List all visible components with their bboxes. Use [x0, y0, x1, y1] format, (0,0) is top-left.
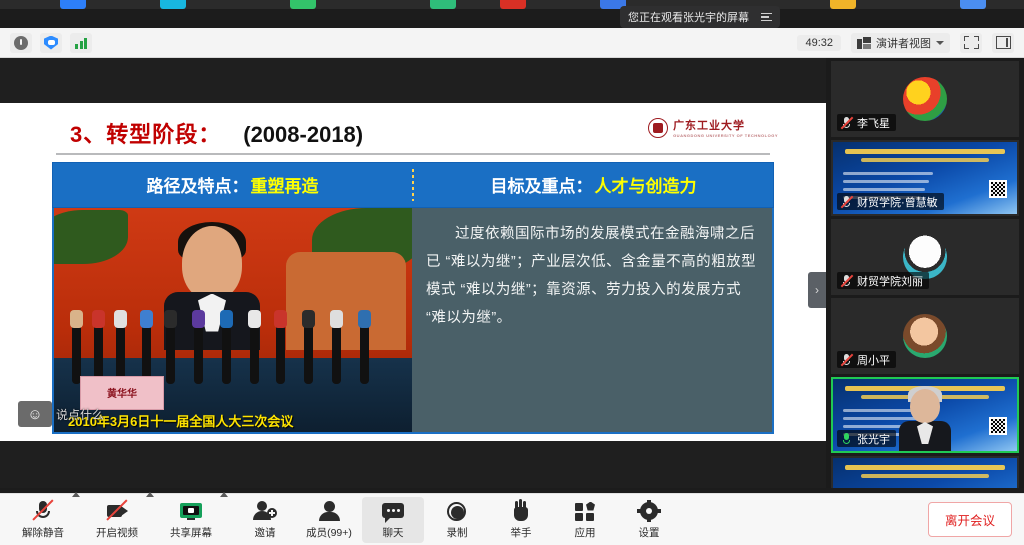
- slide-title-years: (2008-2018): [243, 122, 363, 148]
- toolbar-button-apps[interactable]: 应用: [554, 497, 616, 543]
- bar-left-value: 重塑再造: [251, 172, 319, 197]
- toolbar-button-share-screen[interactable]: 共享屏幕: [160, 497, 222, 543]
- chevron-up-icon[interactable]: [72, 492, 80, 497]
- toolbar-button-participants[interactable]: 成员(99+): [298, 497, 360, 543]
- raise-hand-icon: [509, 500, 533, 522]
- layout-icon: [857, 37, 871, 49]
- participant-tile[interactable]: 周小平: [831, 298, 1019, 374]
- toolbar-button-record[interactable]: 录制: [426, 497, 488, 543]
- participant-tile[interactable]: 李飞星: [831, 61, 1019, 137]
- bar-right-label: 目标及重点：: [491, 172, 593, 197]
- toolbar-button-label: 聊天: [383, 525, 404, 540]
- press-conference-photo: 黄华华 2010年3月6日十一届全国人大三次会议: [54, 208, 412, 432]
- speaker-figure: [164, 226, 260, 344]
- chevron-down-icon: [936, 41, 944, 45]
- record-icon: [445, 500, 469, 522]
- share-screen-icon: [179, 500, 203, 522]
- view-mode-label: 演讲者视图: [876, 35, 931, 51]
- meeting-top-bar: 49:32 演讲者视图: [0, 28, 1024, 58]
- microphone-active-icon: [840, 432, 853, 445]
- shared-slide-thumbnail: [833, 458, 1017, 488]
- microphone-muted-icon: [31, 500, 55, 522]
- participant-name: 财贸学院·曾慧敏: [857, 194, 938, 210]
- browser-tab-strip: [0, 0, 1024, 9]
- view-mode-selector[interactable]: 演讲者视图: [851, 33, 950, 53]
- slide-headline-right: 目标及重点： 人才与创造力: [414, 172, 773, 197]
- top-bar-left-group: [10, 33, 92, 53]
- photo-nameplate: 黄华华: [80, 376, 164, 410]
- chevron-up-icon[interactable]: [146, 492, 154, 497]
- participant-tile[interactable]: 张光宇: [831, 377, 1019, 453]
- participant-name-label: 财贸学院刘丽: [837, 272, 929, 289]
- encryption-shield-icon[interactable]: [40, 33, 62, 53]
- microphone-muted-icon: [840, 353, 853, 366]
- participant-name: 周小平: [857, 352, 890, 368]
- avatar: [903, 314, 947, 358]
- microphone-muted-icon: [840, 116, 853, 129]
- toolbar-button-label: 举手: [511, 525, 532, 540]
- participant-name-label: 财贸学院·曾慧敏: [837, 193, 944, 210]
- shared-desktop-surface: 3、转型阶段： (2008-2018) 广东工业大学 GUANGDONG UNI…: [0, 103, 826, 441]
- toolbar-button-chat[interactable]: 聊天: [362, 497, 424, 543]
- toolbar-button-raise-hand[interactable]: 举手: [490, 497, 552, 543]
- toolbar-button-label: 录制: [447, 525, 468, 540]
- slide-headline-left: 路径及特点： 重塑再造: [53, 172, 412, 197]
- chevron-up-icon[interactable]: [220, 492, 228, 497]
- slide-title-seq: 3、转型阶段：: [70, 117, 221, 149]
- toolbar-button-settings-gear[interactable]: 设置: [618, 497, 680, 543]
- leave-meeting-button[interactable]: 离开会议: [928, 502, 1012, 537]
- bar-right-value: 人才与创造力: [595, 172, 697, 197]
- viewing-screen-text: 您正在观看张光宇的屏幕: [628, 9, 749, 25]
- collapse-filmstrip-handle[interactable]: ›: [808, 272, 826, 308]
- participant-name-label: 周小平: [837, 351, 896, 368]
- fullscreen-icon[interactable]: [960, 33, 982, 53]
- reaction-emoji-button[interactable]: ☺: [18, 401, 52, 427]
- shared-screen-stage: 3、转型阶段： (2008-2018) 广东工业大学 GUANGDONG UNI…: [0, 58, 826, 488]
- browser-tab-icon[interactable]: [160, 0, 186, 9]
- slide-body: 黄华华 2010年3月6日十一届全国人大三次会议 过度依赖国际市场的发展模式在金…: [52, 208, 774, 434]
- meeting-timer: 49:32: [797, 35, 841, 51]
- hamburger-icon[interactable]: [761, 13, 772, 22]
- participant-tile[interactable]: 财贸学院刘丽: [831, 219, 1019, 295]
- meeting-controls-toolbar: 解除静音开启视频共享屏幕邀请成员(99+)聊天录制举手应用设置 离开会议: [0, 493, 1024, 545]
- apps-icon: [573, 500, 597, 522]
- toolbar-button-invite[interactable]: 邀请: [234, 497, 296, 543]
- meeting-info-icon[interactable]: [10, 33, 32, 53]
- toolbar-button-label: 解除静音: [22, 525, 64, 540]
- chevron-right-icon: ›: [815, 283, 819, 297]
- top-bar-right-group: 49:32 演讲者视图: [797, 33, 1014, 53]
- browser-tab-icon[interactable]: [830, 0, 856, 9]
- university-name-en: GUANGDONG UNIVERSITY OF TECHNOLOGY: [673, 133, 778, 138]
- network-quality-icon[interactable]: [70, 33, 92, 53]
- zoom-meeting-window: 您正在观看张光宇的屏幕 49:32 演讲者视图 3: [0, 0, 1024, 545]
- avatar: [903, 77, 947, 121]
- viewing-screen-banner: 您正在观看张光宇的屏幕: [620, 6, 780, 28]
- toolbar-button-camera-off[interactable]: 开启视频: [86, 497, 148, 543]
- side-panel-icon[interactable]: [992, 33, 1014, 53]
- browser-tab-icon[interactable]: [960, 0, 986, 9]
- presentation-slide: 3、转型阶段： (2008-2018) 广东工业大学 GUANGDONG UNI…: [42, 103, 784, 441]
- slide-headline-bar: 路径及特点： 重塑再造 目标及重点： 人才与创造力: [52, 162, 774, 208]
- toolbar-button-microphone-muted[interactable]: 解除静音: [12, 497, 74, 543]
- university-logo: 广东工业大学 GUANGDONG UNIVERSITY OF TECHNOLOG…: [648, 117, 778, 138]
- toolbar-button-label: 邀请: [255, 525, 276, 540]
- participant-name: 李飞星: [857, 115, 890, 131]
- browser-tab-icon[interactable]: [60, 0, 86, 9]
- qr-code-icon: [989, 180, 1007, 198]
- browser-tab-icon[interactable]: [500, 0, 526, 9]
- participant-filmstrip[interactable]: 李飞星财贸学院·曾慧敏财贸学院刘丽周小平张光宇▾: [826, 58, 1024, 488]
- browser-tab-icon[interactable]: [430, 0, 456, 9]
- camera-off-icon: [105, 500, 129, 522]
- participant-tile[interactable]: [831, 456, 1019, 488]
- slide-body-text: 过度依赖国际市场的发展模式在金融海啸之后已 “难以为继”；产业层次低、含金量不高…: [426, 220, 758, 332]
- toolbar-button-label: 成员(99+): [306, 525, 352, 540]
- toolbar-button-label: 设置: [639, 525, 660, 540]
- participant-name: 财贸学院刘丽: [857, 273, 923, 289]
- annotation-hint-text: 说点什么: [56, 406, 104, 423]
- participant-video: [899, 389, 951, 453]
- browser-tab-icon[interactable]: [290, 0, 316, 9]
- slide-text-pane: 过度依赖国际市场的发展模式在金融海啸之后已 “难以为继”；产业层次低、含金量不高…: [412, 208, 772, 432]
- settings-gear-icon: [637, 500, 661, 522]
- slide-divider: [56, 153, 770, 155]
- university-crest-icon: [648, 118, 668, 138]
- university-name: 广东工业大学 GUANGDONG UNIVERSITY OF TECHNOLOG…: [673, 117, 778, 138]
- smiley-icon: ☺: [27, 406, 42, 423]
- participant-name-label: 李飞星: [837, 114, 896, 131]
- toolbar-button-label: 开启视频: [96, 525, 138, 540]
- chat-icon: [381, 500, 405, 522]
- participants-icon: [317, 500, 341, 522]
- bar-left-label: 路径及特点：: [147, 172, 249, 197]
- microphone-muted-icon: [840, 274, 853, 287]
- toolbar-button-label: 应用: [575, 525, 596, 540]
- participant-tile[interactable]: 财贸学院·曾慧敏: [831, 140, 1019, 216]
- invite-icon: [253, 500, 277, 522]
- participant-name: 张光宇: [857, 431, 890, 447]
- microphone-muted-icon: [840, 195, 853, 208]
- qr-code-icon: [989, 417, 1007, 435]
- participant-name-label: 张光宇: [837, 430, 896, 447]
- toolbar-button-label: 共享屏幕: [170, 525, 212, 540]
